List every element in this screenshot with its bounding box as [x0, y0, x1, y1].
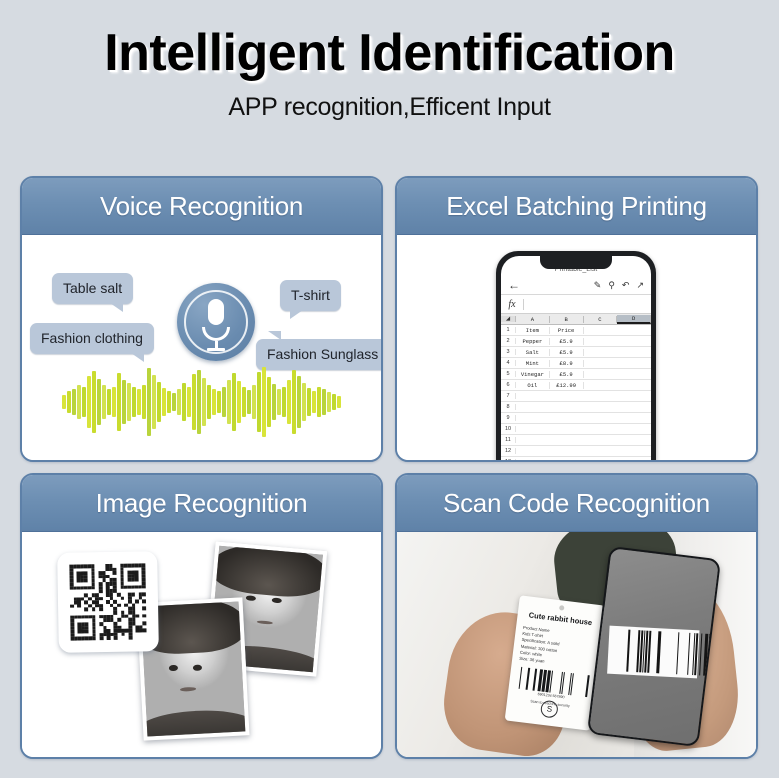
spreadsheet-row[interactable]: 11: [501, 435, 651, 446]
waveform-bar: [87, 376, 91, 428]
waveform-bar: [192, 374, 196, 430]
scan-photo: Cute rabbit house Product NameKids T-shi…: [397, 532, 756, 757]
panel-body-voice: Table salt T-shirt Fashion clothing Fash…: [22, 235, 381, 460]
waveform-bar: [167, 391, 171, 413]
cell-a[interactable]: Item: [516, 327, 550, 334]
waveform-bar: [112, 387, 116, 417]
waveform-bar: [182, 383, 186, 421]
pen-icon[interactable]: ✎: [594, 280, 602, 291]
panel-excel-batching-printing[interactable]: Excel Batching Printing Printable_List ←…: [395, 176, 758, 462]
waveform-bar: [297, 376, 301, 428]
spreadsheet-column-header-row: ◢ A B C D: [501, 314, 651, 325]
waveform-bar: [222, 387, 226, 417]
waveform-bar: [302, 383, 306, 421]
spreadsheet-row[interactable]: 8: [501, 402, 651, 413]
row-index: 8: [501, 404, 516, 410]
cell-a[interactable]: Pepper: [516, 338, 550, 345]
waveform-bar: [212, 389, 216, 415]
row-index: 1: [501, 327, 516, 333]
waveform-bar: [287, 380, 291, 424]
scanned-barcode-icon: [607, 626, 700, 679]
panel-image-recognition[interactable]: Image Recognition: [20, 473, 383, 759]
spreadsheet-row[interactable]: 1ItemPrice: [501, 325, 651, 336]
waveform-bar: [102, 385, 106, 419]
hangtag-hole: [559, 605, 565, 611]
panel-body-excel: Printable_List ← ✎ ⚲ ↶ ↗ fx: [397, 235, 756, 460]
audio-waveform: [22, 366, 381, 438]
row-index: 12: [501, 448, 516, 454]
waveform-bar: [152, 375, 156, 429]
search-icon[interactable]: ⚲: [608, 280, 615, 291]
speech-bubble-tshirt: T-shirt: [280, 280, 341, 311]
panel-grid: Voice Recognition Table salt T-shirt Fas…: [20, 176, 759, 759]
row-index: 10: [501, 426, 516, 432]
spreadsheet-row[interactable]: 5Vinegar£5.9: [501, 369, 651, 380]
waveform-bar: [92, 371, 96, 433]
waveform-bar: [332, 394, 336, 410]
spreadsheet-row[interactable]: 9: [501, 413, 651, 424]
waveform-bar: [277, 389, 281, 415]
spreadsheet-row[interactable]: 10: [501, 424, 651, 435]
waveform-bar: [147, 368, 151, 436]
page-header: Intelligent Identification APP recogniti…: [0, 0, 779, 122]
spreadsheet-row[interactable]: 13: [501, 457, 651, 460]
column-header-c[interactable]: C: [584, 316, 618, 323]
spreadsheet-row[interactable]: 7: [501, 391, 651, 402]
row-index: 11: [501, 437, 516, 443]
spreadsheet-row[interactable]: 12: [501, 446, 651, 457]
waveform-bar: [72, 389, 76, 415]
column-header-b[interactable]: B: [550, 316, 584, 323]
spreadsheet-rows: 1ItemPrice2Pepper£5.93Salt£5.94Mint£8.95…: [501, 325, 651, 460]
waveform-bar: [272, 384, 276, 420]
panel-header-voice: Voice Recognition: [22, 178, 381, 235]
back-arrow-icon[interactable]: ←: [508, 278, 520, 292]
row-index: 7: [501, 393, 516, 399]
waveform-bar: [292, 370, 296, 434]
cell-b[interactable]: £5.9: [550, 371, 584, 378]
waveform-bar: [267, 377, 271, 427]
waveform-bar: [157, 382, 161, 422]
row-index: 6: [501, 382, 516, 388]
speech-bubble-fashion-clothing: Fashion clothing: [30, 323, 154, 354]
panel-scan-code-recognition[interactable]: Scan Code Recognition Cute rabbit house …: [395, 473, 758, 759]
cell-b[interactable]: Price: [550, 327, 584, 334]
waveform-bar: [67, 391, 71, 413]
waveform-bar: [252, 385, 256, 419]
waveform-bar: [127, 383, 131, 421]
cell-b[interactable]: £5.9: [550, 338, 584, 345]
panel-body-scan: Cute rabbit house Product NameKids T-shi…: [397, 532, 756, 757]
spreadsheet-row[interactable]: 4Mint£8.9: [501, 358, 651, 369]
panel-voice-recognition[interactable]: Voice Recognition Table salt T-shirt Fas…: [20, 176, 383, 462]
toolbar-icons: ✎ ⚲ ↶ ↗: [594, 280, 644, 291]
spreadsheet-row[interactable]: 2Pepper£5.9: [501, 336, 651, 347]
formula-label: fx: [501, 299, 524, 310]
qr-module: [143, 636, 147, 640]
waveform-bar: [242, 387, 246, 417]
waveform-bar: [202, 378, 206, 426]
row-index: 4: [501, 360, 516, 366]
row-index: 3: [501, 349, 516, 355]
cell-a[interactable]: Vinegar: [516, 371, 550, 378]
waveform-bar: [62, 395, 66, 409]
page-subtitle: APP recognition,Efficent Input: [0, 93, 779, 122]
waveform-bar: [137, 389, 141, 415]
waveform-bar: [337, 396, 341, 408]
smartphone-device: Printable_List ← ✎ ⚲ ↶ ↗ fx: [496, 251, 656, 460]
row-index: 2: [501, 338, 516, 344]
row-index: 13: [501, 459, 516, 460]
panel-title-image: Image Recognition: [96, 488, 308, 519]
cell-b[interactable]: £8.9: [550, 360, 584, 367]
qr-code-card: [57, 551, 159, 653]
phone-screen: Printable_List ← ✎ ⚲ ↶ ↗ fx: [501, 256, 651, 460]
formula-bar[interactable]: fx: [501, 296, 651, 314]
cell-b[interactable]: £12.99: [550, 382, 584, 389]
waveform-bar: [107, 389, 111, 415]
column-header-a[interactable]: A: [516, 316, 550, 323]
microphone-glyph: [202, 299, 230, 351]
waveform-bar: [132, 387, 136, 417]
waveform-bar: [317, 387, 321, 417]
waveform-bar: [142, 385, 146, 419]
cell-a[interactable]: Mint: [516, 360, 550, 367]
speech-bubble-table-salt: Table salt: [52, 273, 133, 304]
panel-header-image: Image Recognition: [22, 475, 381, 532]
waveform-bar: [187, 387, 191, 417]
waveform-bar: [207, 385, 211, 419]
waveform-bar: [162, 388, 166, 416]
waveform-bar: [257, 372, 261, 432]
waveform-bar: [97, 379, 101, 425]
corner-select-icon[interactable]: ◢: [501, 316, 516, 322]
cell-a[interactable]: Salt: [516, 349, 550, 356]
page-title: Intelligent Identification: [0, 26, 779, 81]
cell-b[interactable]: £5.9: [550, 349, 584, 356]
spreadsheet-row[interactable]: 3Salt£5.9: [501, 347, 651, 358]
waveform-bar: [177, 389, 181, 415]
cell-a[interactable]: Oil: [516, 382, 550, 389]
waveform-bar: [307, 388, 311, 416]
waveform-bar: [282, 387, 286, 417]
row-index: 9: [501, 415, 516, 421]
panel-header-scan: Scan Code Recognition: [397, 475, 756, 532]
waveform-bar: [82, 387, 86, 417]
panel-body-image: [22, 532, 381, 757]
hangtag-details: Product NameKids T-shirtSpecification: A…: [519, 624, 595, 670]
qr-code-icon: [69, 563, 146, 640]
spreadsheet-toolbar: ← ✎ ⚲ ↶ ↗: [501, 276, 651, 295]
spreadsheet-grid[interactable]: ◢ A B C D 1ItemPrice2Pepper£5.93Salt£5.9…: [501, 314, 651, 460]
waveform-bar: [327, 392, 331, 412]
waveform-bar: [237, 381, 241, 423]
phone-notch: [540, 256, 612, 269]
panel-title-scan: Scan Code Recognition: [443, 488, 710, 519]
waveform-bar: [217, 391, 221, 413]
waveform-bar: [262, 367, 266, 437]
row-index: 5: [501, 371, 516, 377]
waveform-bar: [247, 390, 251, 414]
microphone-icon[interactable]: [177, 283, 255, 361]
waveform-bar: [117, 373, 121, 431]
waveform-bar: [322, 389, 326, 415]
waveform-bar: [197, 370, 201, 434]
waveform-bar: [122, 380, 126, 424]
scanning-smartphone: [587, 546, 721, 747]
share-icon[interactable]: ↗: [636, 280, 644, 291]
waveform-bar: [312, 391, 316, 413]
undo-icon[interactable]: ↶: [622, 280, 630, 291]
waveform-bar: [227, 380, 231, 424]
panel-title-excel: Excel Batching Printing: [446, 191, 706, 222]
panel-header-excel: Excel Batching Printing: [397, 178, 756, 235]
waveform-bar: [77, 385, 81, 419]
column-header-d[interactable]: D: [617, 315, 651, 324]
panel-title-voice: Voice Recognition: [100, 191, 303, 222]
waveform-bar: [232, 373, 236, 431]
waveform-bar: [172, 393, 176, 411]
spreadsheet-row[interactable]: 6Oil£12.99: [501, 380, 651, 391]
